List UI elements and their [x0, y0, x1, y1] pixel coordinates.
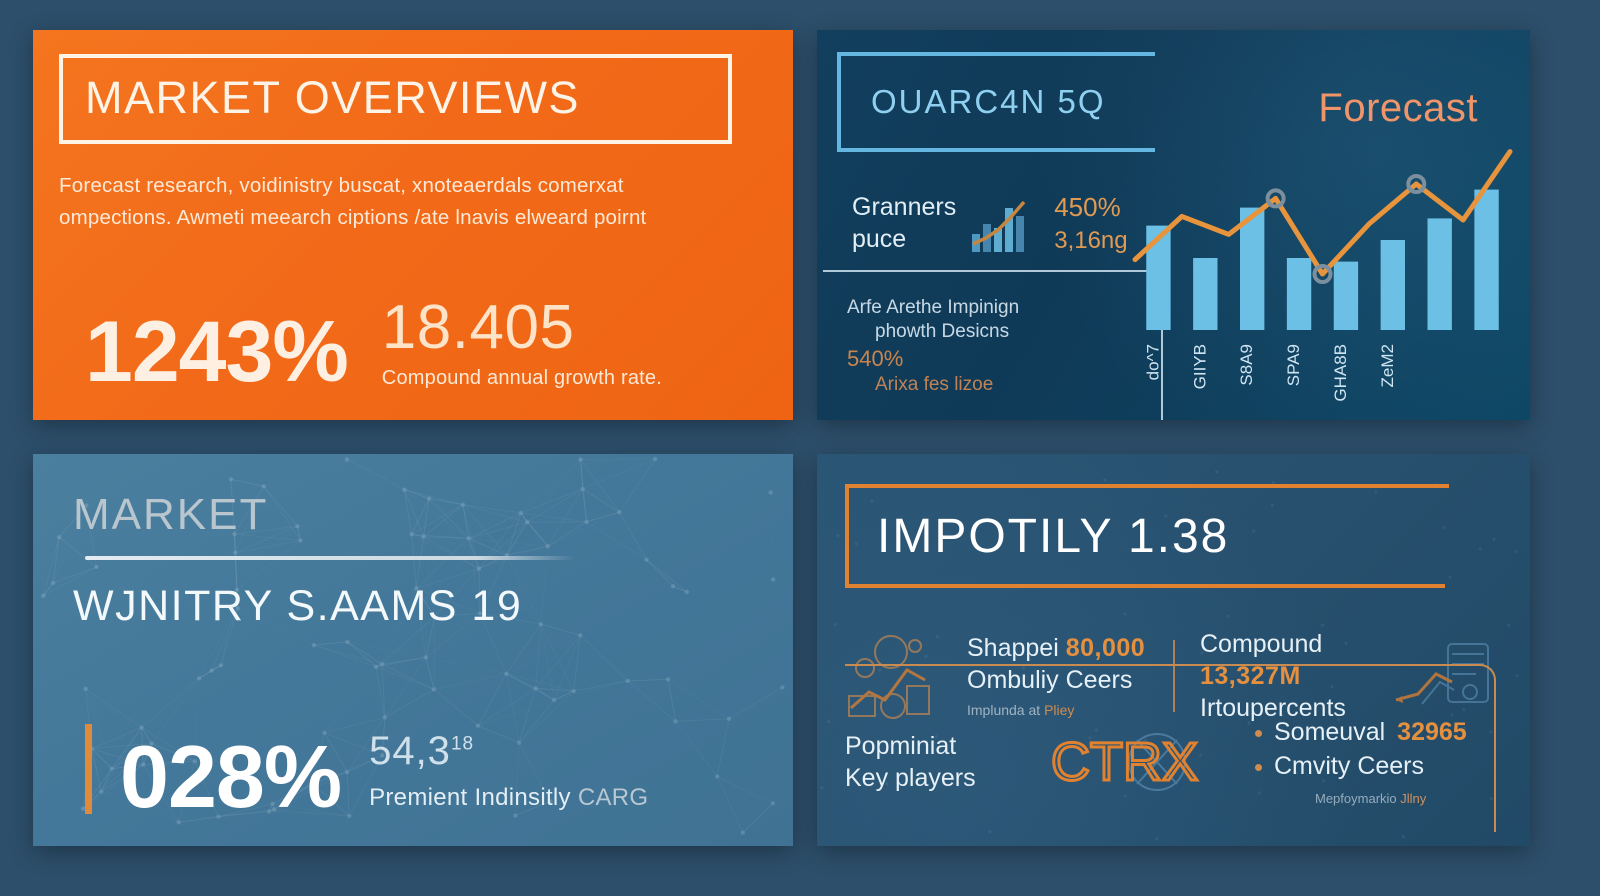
accent-bar — [85, 724, 92, 814]
page-title: MARKET OVERVIEWS — [85, 72, 706, 124]
cagr-secondary-block: 18.405 Compound annual growth rate. — [382, 297, 662, 394]
chart-bar — [1334, 262, 1358, 330]
chart-bar — [1474, 190, 1498, 330]
bullet-text-1: Someuval — [1274, 716, 1385, 750]
chart-trend-line — [1135, 152, 1510, 274]
chart-x-label: GHA8B — [1331, 344, 1350, 402]
granners-stat-group: Granners puce 450% 3,16ng — [852, 190, 1128, 257]
side-value-sup: 18 — [451, 734, 474, 755]
bullets-fine-text: Mepfoymarkio — [1315, 791, 1397, 806]
chart-x-axis-labels: do^7GIIYBS8A9SPA9GHA8BZeM2 — [1143, 344, 1396, 402]
market-overview-title-frame: MARKET OVERVIEWS — [59, 54, 732, 144]
panel-forecast: OUARC4N 5Q Forecast Granners puce 450% 3… — [817, 30, 1530, 420]
infographic-board: MARKET OVERVIEWS Forecast research, void… — [0, 0, 1600, 896]
forecast-header-text: OUARC4N 5Q — [871, 83, 1106, 121]
panel-market-industry: MARKET WJNITRY S.AAMS 19 028% 54,318 Pre… — [33, 454, 793, 846]
chart-bar — [1428, 218, 1452, 330]
stat-value-1: 80,000 — [1066, 634, 1145, 662]
chart-x-label: ZeM2 — [1378, 344, 1397, 387]
impact-bullet-1: Someuval 32965 — [1255, 716, 1494, 750]
market-industry-big-percent: 028% — [120, 736, 341, 818]
granners-value-2: 3,16ng — [1054, 225, 1127, 257]
forecast-info-card: Arfe Arethe Impinign phowth Desicns 540%… — [823, 270, 1163, 420]
bullet-dot-icon — [1255, 730, 1262, 737]
granners-value-1: 450% — [1054, 190, 1127, 225]
market-industry-kicker: MARKET — [73, 490, 753, 540]
market-industry-header: MARKET WJNITRY S.AAMS 19 — [73, 490, 753, 631]
ctrx-logo-icon: CTRX — [1045, 718, 1245, 806]
granners-label: Granners puce — [852, 192, 956, 255]
side-caption-primary: Premient Indinsitly — [369, 784, 571, 811]
panel-impact: IMPOTILY 1.38 — [817, 454, 1530, 846]
cagr-big-percent: 1243% — [85, 312, 348, 394]
market-industry-subtitle: WJNITRY S.AAMS 19 — [73, 582, 753, 631]
market-industry-stats: 028% 54,318 Premient Indinsitly CARG — [85, 724, 763, 818]
market-industry-divider — [85, 556, 575, 560]
forecast-label: Forecast — [1318, 86, 1478, 131]
mini-bar-spark-icon — [970, 194, 1040, 254]
granners-values: 450% 3,16ng — [1054, 190, 1127, 257]
panel-market-overview: MARKET OVERVIEWS Forecast research, void… — [33, 30, 793, 420]
impact-bullet-2: Cmvity Ceers — [1255, 750, 1494, 784]
bullet-value-1: 32965 — [1397, 716, 1467, 750]
market-overview-stats: 1243% 18.405 Compound annual growth rate… — [85, 297, 767, 394]
impact-title-bracket: IMPOTILY 1.38 — [845, 484, 1449, 584]
impact-players-box: Popminiat Key players CTRX Someuval 3296… — [845, 664, 1496, 832]
key-players-label: Popminiat Key players — [845, 730, 1045, 795]
chart-bar — [1287, 258, 1311, 330]
ctrx-logo-text: CTRX — [1051, 732, 1198, 792]
chart-x-label: GIIYB — [1190, 344, 1209, 389]
chart-bar — [1193, 258, 1217, 330]
chart-x-label: S8A9 — [1237, 344, 1256, 386]
forecast-bar-line-chart: do^7GIIYBS8A9SPA9GHA8BZeM2 — [1121, 130, 1526, 420]
market-overview-body: Forecast research, voidinistry buscat, x… — [59, 170, 710, 235]
stat-label-1: Shappei — [967, 634, 1059, 662]
market-industry-side-block: 54,318 Premient Indinsitly CARG — [369, 729, 648, 818]
impact-title: IMPOTILY 1.38 — [877, 509, 1229, 564]
info-card-line-3: 540% — [847, 345, 1145, 373]
chart-x-label: do^7 — [1143, 344, 1162, 380]
forecast-header-frame: OUARC4N 5Q — [837, 52, 1155, 152]
side-value-main: 54,3 — [369, 729, 451, 773]
impact-bullets: Someuval 32965 Cmvity Ceers Mepfoymarkio… — [1255, 716, 1494, 807]
market-industry-side-value: 54,318 — [369, 729, 648, 774]
market-industry-side-caption: Premient Indinsitly CARG — [369, 784, 648, 812]
bullets-fine-hl: Jllny — [1400, 791, 1426, 806]
chart-bars — [1146, 190, 1499, 330]
stat-label-2: Compound — [1200, 630, 1322, 658]
cagr-secondary-value: 18.405 — [382, 297, 662, 359]
info-card-line-2: phowth Desicns — [847, 320, 1145, 344]
side-caption-secondary: CARG — [578, 784, 649, 811]
impact-bullets-fine: Mepfoymarkio Jllny — [1255, 790, 1494, 808]
chart-x-label: SPA9 — [1284, 344, 1303, 386]
bullet-text-2: Cmvity Ceers — [1274, 750, 1424, 784]
chart-bar — [1381, 240, 1405, 330]
cagr-secondary-caption: Compound annual growth rate. — [382, 367, 662, 390]
info-card-line-4: Arixa fes lizoe — [847, 373, 1145, 397]
info-card-line-1: Arfe Arethe Impinign — [847, 296, 1145, 320]
bullet-dot-icon — [1255, 764, 1262, 771]
